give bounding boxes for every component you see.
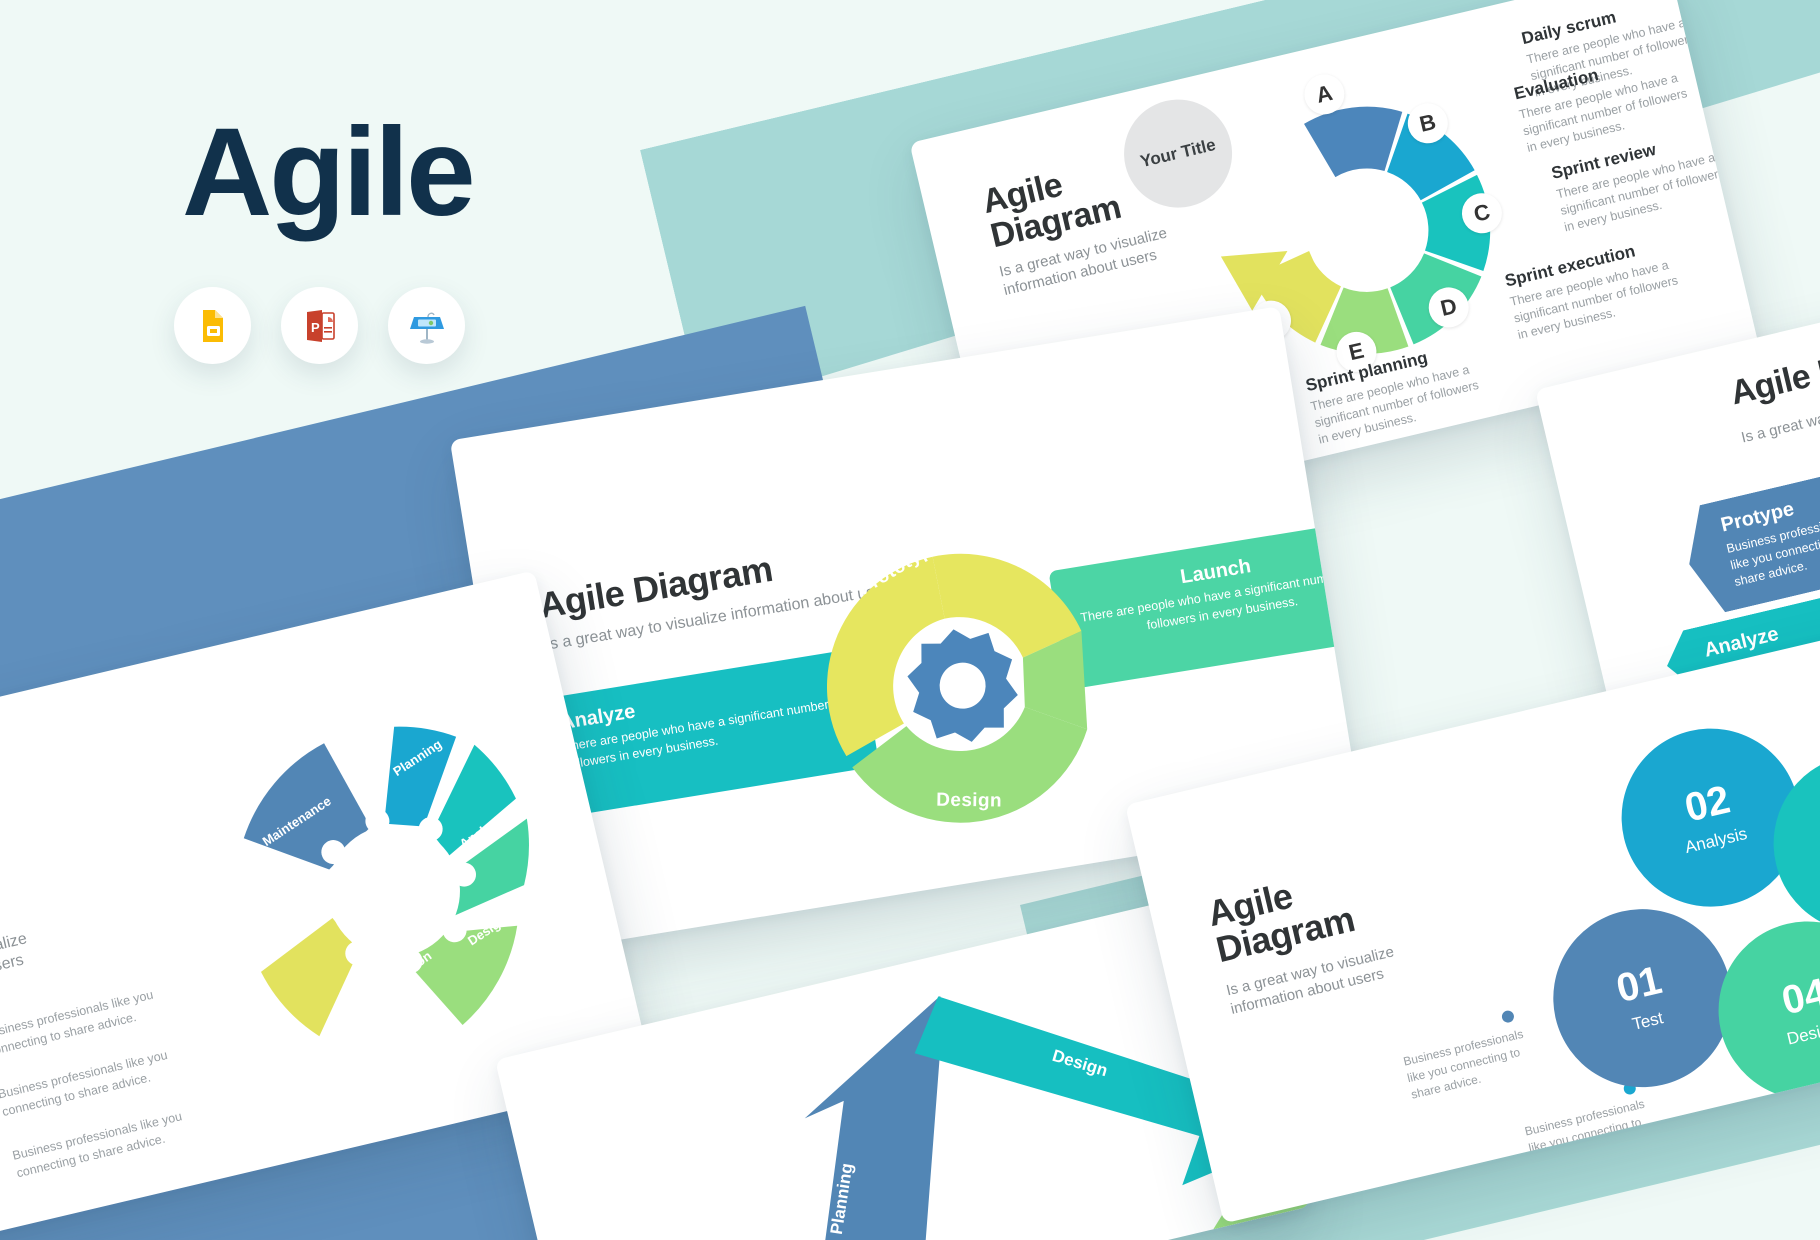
arc-label-design: Design [936, 790, 1002, 813]
google-slides-badge[interactable] [174, 287, 251, 364]
slide-subtitle: y to visualizeabout users [0, 904, 139, 989]
hero-title: Agile [182, 110, 473, 235]
circle-01-test[interactable]: 01 Test [1535, 891, 1749, 1105]
circle-number: 01 [1613, 960, 1666, 1009]
agile-arc-graphic: Prototype Design [772, 498, 1151, 877]
circle-04-design[interactable]: 04 Design [1700, 903, 1820, 1117]
circle-label: Test [1630, 1008, 1665, 1035]
gear-icon [895, 618, 1030, 753]
slide-title: Agile D [1727, 351, 1820, 411]
poster-canvas: Agile P [0, 0, 1820, 1240]
google-slides-icon [193, 306, 233, 346]
powerpoint-icon: P [300, 306, 340, 346]
keynote-badge[interactable] [388, 287, 465, 364]
powerpoint-badge[interactable]: P [281, 287, 358, 364]
note-dot-icon-1 [1501, 1009, 1515, 1023]
svg-text:P: P [311, 320, 320, 335]
note-text-1: Business professionals like you connecti… [1402, 1022, 1550, 1103]
ribbon-protype[interactable]: Protype Business professionals like you … [1677, 442, 1820, 618]
keynote-icon [406, 305, 448, 347]
circle-number: 04 [1778, 972, 1820, 1021]
circle-number: 02 [1681, 779, 1734, 828]
app-badges: P [174, 287, 465, 364]
